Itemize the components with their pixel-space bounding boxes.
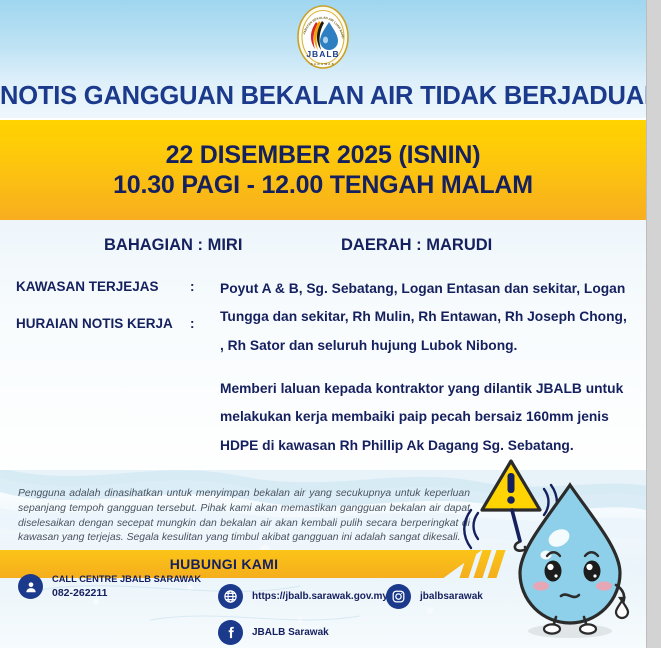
jbalb-logo: JBALB SARAWAK JABATAN BEKALAN AIR LUAR B… xyxy=(293,4,353,70)
contact-website[interactable]: https://jbalb.sarawak.gov.my/ xyxy=(218,584,391,609)
poster-header: JBALB SARAWAK JABATAN BEKALAN AIR LUAR B… xyxy=(0,0,646,118)
warning-sign-icon xyxy=(482,460,540,510)
facebook-icon xyxy=(218,620,243,645)
call-centre-label: CALL CENTRE JBALB SARAWAK xyxy=(52,574,201,586)
website-url: https://jbalb.sarawak.gov.my/ xyxy=(252,591,391,602)
facebook-handle: JBALB Sarawak xyxy=(252,627,329,638)
globe-icon xyxy=(218,584,243,609)
district-label: DAERAH : MARUDI xyxy=(341,236,492,255)
call-centre-number: 082-262211 xyxy=(52,586,201,600)
contact-facebook[interactable]: JBALB Sarawak xyxy=(218,620,329,645)
logo-wordmark: JBALB xyxy=(306,49,339,59)
affected-areas-colon: : xyxy=(190,279,195,294)
person-icon xyxy=(18,574,43,599)
contact-call-centre[interactable]: CALL CENTRE JBALB SARAWAK 082-262211 xyxy=(18,574,201,600)
works-description-value: Memberi laluan kepada kontraktor yang di… xyxy=(220,375,635,460)
division-label: BAHAGIAN : MIRI xyxy=(104,236,242,255)
svg-text:SARAWAK: SARAWAK xyxy=(311,62,336,66)
notice-time: 10.30 PAGI - 12.00 TENGAH MALAM xyxy=(113,170,533,201)
page-title: NOTIS GANGGUAN BEKALAN AIR TIDAK BERJADU… xyxy=(0,82,646,111)
disclaimer-text: Pengguna adalah dinasihatkan untuk menyi… xyxy=(18,487,470,546)
notice-date: 22 DISEMBER 2025 (ISNIN) xyxy=(166,140,481,171)
notice-poster: JBALB SARAWAK JABATAN BEKALAN AIR LUAR B… xyxy=(0,0,646,648)
notice-body: BAHAGIAN : MIRI DAERAH : MARUDI KAWASAN … xyxy=(0,220,646,478)
affected-areas-label: KAWASAN TERJEJAS xyxy=(16,279,159,294)
works-label: HURAIAN NOTIS KERJA xyxy=(16,316,173,331)
date-time-band: 22 DISEMBER 2025 (ISNIN) 10.30 PAGI - 12… xyxy=(0,120,646,220)
affected-areas-value: Poyut A & B, Sg. Sebatang, Logan Entasan… xyxy=(220,275,630,360)
mascot-left-arm xyxy=(515,542,524,551)
page-edge-strip xyxy=(646,0,661,648)
works-colon: : xyxy=(190,316,195,331)
instagram-icon xyxy=(386,584,411,609)
water-droplet-mascot xyxy=(452,455,646,648)
